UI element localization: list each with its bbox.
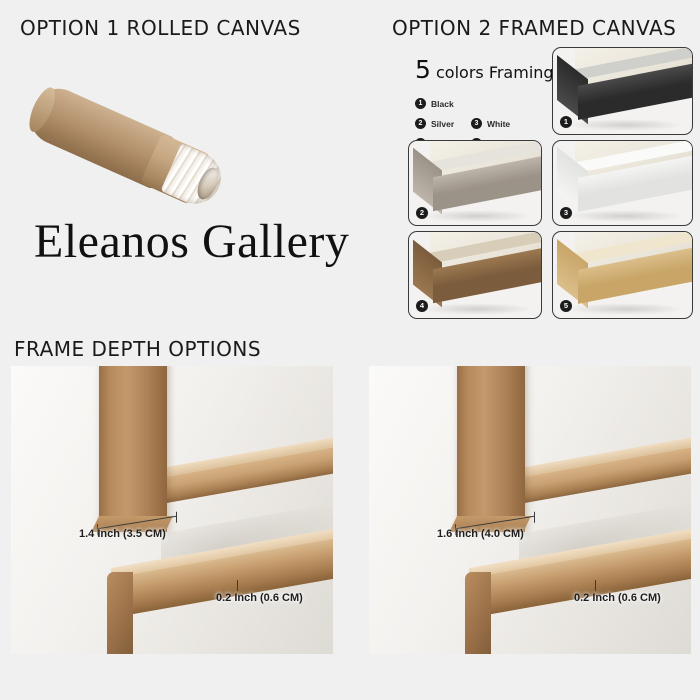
swatch-number-5: 5 <box>560 300 572 312</box>
swatch-number-4: 4 <box>416 300 428 312</box>
framing-count: 5 <box>415 55 431 84</box>
bullet-3-icon: 3 <box>471 118 482 129</box>
framing-legend-title: 5 colors Framing <box>415 55 540 84</box>
frame-swatch-wood[interactable]: 4 <box>408 231 542 319</box>
option1-heading: OPTION 1 ROLLED CANVAS <box>20 16 301 40</box>
photo-background <box>369 366 691 654</box>
swatch-number-3: 3 <box>560 207 572 219</box>
frame-corner-render <box>553 141 692 225</box>
canvas-edge-cap <box>465 572 491 654</box>
swatch-shadow <box>422 210 533 222</box>
frame-swatch-silver[interactable]: 2 <box>408 140 542 226</box>
tube-graphic <box>23 80 216 207</box>
legend-label-silver: Silver <box>431 119 454 129</box>
canvas-edge-cap <box>107 572 133 654</box>
depth-caliper-bottom <box>237 584 238 585</box>
frame-stile <box>99 366 167 532</box>
frame-stile <box>457 366 525 532</box>
rolled-canvas-tube-icon <box>28 52 228 197</box>
legend-label-black: Black <box>431 99 454 109</box>
frame-corner-render <box>553 232 692 318</box>
bullet-1-icon: 1 <box>415 98 426 109</box>
swatch-shadow <box>567 119 684 131</box>
option2-heading: OPTION 2 FRAMED CANVAS <box>392 16 676 40</box>
frame-swatch-white[interactable]: 3 <box>552 140 693 226</box>
swatch-number-1: 1 <box>560 116 572 128</box>
swatch-number-2: 2 <box>416 207 428 219</box>
edge-depth-label-left: 0.2 Inch (0.6 CM) <box>216 592 303 604</box>
legend-item-white[interactable]: 3 White <box>471 118 540 129</box>
frame-corner-render <box>409 232 541 318</box>
framing-options-panel: 5 colors Framing 1 Black 2 Silver 3 Whit… <box>407 47 693 319</box>
frame-depth-label-right: 1.6 Inch (4.0 CM) <box>437 528 524 540</box>
swatch-shadow <box>567 210 684 222</box>
edge-depth-label-right: 0.2 Inch (0.6 CM) <box>574 592 661 604</box>
frame-depth-label-left: 1.4 Inch (3.5 CM) <box>79 528 166 540</box>
framing-legend: 5 colors Framing 1 Black 2 Silver 3 Whit… <box>415 55 540 149</box>
frame-corner-render <box>409 141 541 225</box>
swatch-shadow <box>567 303 684 315</box>
legend-label-white: White <box>487 119 510 129</box>
frame-swatch-black[interactable]: 1 <box>552 47 693 135</box>
legend-item-black[interactable]: 1 Black <box>415 98 467 109</box>
bullet-2-icon: 2 <box>415 118 426 129</box>
swatch-shadow <box>422 303 533 315</box>
frame-depth-photo-left: 1.4 Inch (3.5 CM) 0.2 Inch (0.6 CM) <box>11 366 333 654</box>
photo-background <box>11 366 333 654</box>
brand-wordmark: Eleanos Gallery <box>34 214 349 269</box>
legend-item-silver[interactable]: 2 Silver <box>415 118 467 129</box>
frame-swatch-gold[interactable]: 5 <box>552 231 693 319</box>
frame-depth-photo-right: 1.6 Inch (4.0 CM) 0.2 Inch (0.6 CM) <box>369 366 691 654</box>
frame-depth-heading: FRAME DEPTH OPTIONS <box>14 337 261 361</box>
frame-corner-render <box>553 48 692 134</box>
depth-caliper-bottom <box>595 584 596 585</box>
framing-title-text: colors Framing <box>431 63 554 82</box>
